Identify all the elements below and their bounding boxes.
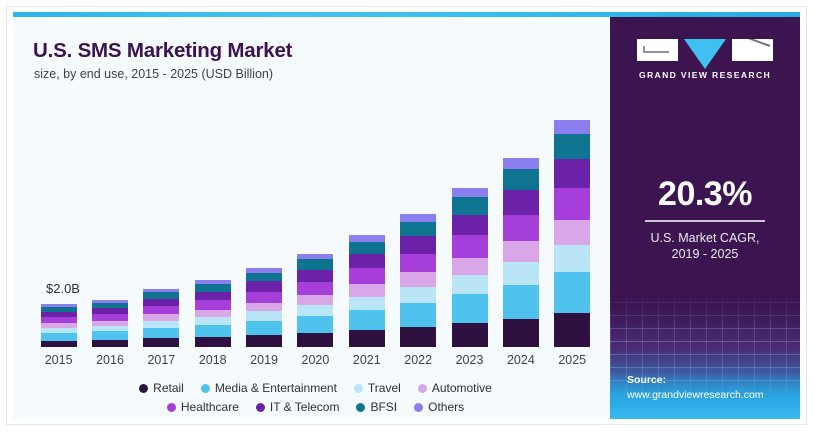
stacked-bar[interactable] xyxy=(143,289,179,347)
logo-wordmark: GRAND VIEW RESEARCH xyxy=(639,70,771,80)
cagr-label-line-1: U.S. Market CAGR, xyxy=(610,230,800,247)
legend-label: IT & Telecom xyxy=(270,400,340,414)
bar-column-2020[interactable] xyxy=(290,254,341,347)
bar-segment-healthcare[interactable] xyxy=(143,306,179,314)
bar-segment-it-telecom[interactable] xyxy=(246,281,282,291)
x-tick-2021: 2021 xyxy=(341,353,392,373)
legend-item-media-entertainment[interactable]: Media & Entertainment xyxy=(201,381,337,395)
bar-segment-others[interactable] xyxy=(503,158,539,169)
stacked-bar[interactable] xyxy=(503,158,539,347)
logo-triangle-icon xyxy=(684,39,726,69)
legend-label: Travel xyxy=(368,381,401,395)
bar-segment-media-entertainment[interactable] xyxy=(195,325,231,337)
source-block: Source: www.grandviewresearch.com xyxy=(627,373,797,403)
x-tick-2019: 2019 xyxy=(238,353,289,373)
stacked-bar-group xyxy=(33,102,598,347)
bar-segment-media-entertainment[interactable] xyxy=(143,328,179,338)
x-tick-2017: 2017 xyxy=(136,353,187,373)
bar-segment-media-entertainment[interactable] xyxy=(503,285,539,319)
legend-row-top: RetailMedia & EntertainmentTravelAutomot… xyxy=(33,381,598,395)
bar-segment-retail[interactable] xyxy=(297,333,333,347)
legend-label: Automotive xyxy=(432,381,492,395)
bar-segment-travel[interactable] xyxy=(452,275,488,294)
bar-segment-it-telecom[interactable] xyxy=(297,270,333,282)
legend-item-others[interactable]: Others xyxy=(414,400,464,414)
legend-label: Others xyxy=(428,400,464,414)
legend-item-it-telecom[interactable]: IT & Telecom xyxy=(256,400,340,414)
stacked-bar[interactable] xyxy=(41,304,77,347)
bar-segment-healthcare[interactable] xyxy=(452,235,488,257)
bar-segment-automotive[interactable] xyxy=(349,284,385,296)
bar-segment-healthcare[interactable] xyxy=(195,300,231,309)
legend-label: Retail xyxy=(153,381,184,395)
legend-swatch-travel-icon xyxy=(354,384,363,393)
stacked-bar[interactable] xyxy=(297,254,333,347)
legend-item-bfsi[interactable]: BFSI xyxy=(356,400,397,414)
bar-column-2015[interactable] xyxy=(33,304,84,347)
bar-segment-retail[interactable] xyxy=(246,335,282,347)
bar-segment-automotive[interactable] xyxy=(554,220,590,245)
bar-segment-automotive[interactable] xyxy=(452,258,488,275)
bar-segment-others[interactable] xyxy=(554,120,590,134)
bar-segment-media-entertainment[interactable] xyxy=(400,303,436,327)
bar-segment-travel[interactable] xyxy=(143,321,179,328)
bar-segment-bfsi[interactable] xyxy=(297,259,333,269)
chart-legend: RetailMedia & EntertainmentTravelAutomot… xyxy=(33,381,598,419)
x-tick-2016: 2016 xyxy=(84,353,135,373)
legend-swatch-others-icon xyxy=(414,403,423,412)
x-tick-2025: 2025 xyxy=(547,353,598,373)
stacked-bar[interactable] xyxy=(400,214,436,347)
x-axis-tick-labels: 2015201620172018201920202021202220232024… xyxy=(33,353,598,373)
logo-left-block-icon xyxy=(637,39,678,61)
bar-segment-retail[interactable] xyxy=(452,323,488,347)
bar-segment-media-entertainment[interactable] xyxy=(41,333,77,341)
source-label: Source: xyxy=(627,373,797,388)
legend-swatch-bfsi-icon xyxy=(356,403,365,412)
legend-item-healthcare[interactable]: Healthcare xyxy=(167,400,239,414)
bar-segment-it-telecom[interactable] xyxy=(143,299,179,307)
legend-label: Healthcare xyxy=(181,400,239,414)
bar-segment-retail[interactable] xyxy=(41,341,77,347)
legend-swatch-retail-icon xyxy=(139,384,148,393)
bar-segment-retail[interactable] xyxy=(92,340,128,347)
stacked-bar[interactable] xyxy=(452,188,488,347)
x-tick-2020: 2020 xyxy=(290,353,341,373)
bar-segment-retail[interactable] xyxy=(400,327,436,347)
cagr-label-line-2: 2019 - 2025 xyxy=(610,246,800,263)
bar-column-2021[interactable] xyxy=(341,235,392,347)
bar-segment-it-telecom[interactable] xyxy=(554,159,590,188)
stacked-bar[interactable] xyxy=(554,120,590,347)
bar-segment-it-telecom[interactable] xyxy=(503,190,539,215)
bar-segment-automotive[interactable] xyxy=(246,303,282,312)
bar-segment-retail[interactable] xyxy=(195,337,231,347)
bar-segment-bfsi[interactable] xyxy=(246,273,282,282)
bar-column-2018[interactable] xyxy=(187,280,238,347)
cagr-callout: 20.3% U.S. Market CAGR, 2019 - 2025 xyxy=(610,177,800,263)
legend-item-retail[interactable]: Retail xyxy=(139,381,184,395)
bar-column-2024[interactable] xyxy=(495,158,546,347)
bar-segment-bfsi[interactable] xyxy=(503,169,539,190)
x-tick-2022: 2022 xyxy=(393,353,444,373)
bar-segment-media-entertainment[interactable] xyxy=(349,310,385,330)
bar-column-2017[interactable] xyxy=(136,289,187,347)
bar-segment-retail[interactable] xyxy=(349,330,385,347)
chart-card: U.S. SMS Marketing Market size, by end u… xyxy=(13,12,800,419)
logo-marks xyxy=(637,39,773,64)
bar-segment-healthcare[interactable] xyxy=(400,254,436,273)
bar-segment-travel[interactable] xyxy=(400,287,436,303)
bar-segment-bfsi[interactable] xyxy=(195,284,231,291)
stacked-bar[interactable] xyxy=(349,235,385,347)
stacked-bar[interactable] xyxy=(92,300,128,347)
bar-segment-automotive[interactable] xyxy=(297,295,333,305)
bar-segment-it-telecom[interactable] xyxy=(452,215,488,236)
screenshot-root: U.S. SMS Marketing Market size, by end u… xyxy=(0,0,815,432)
bar-segment-travel[interactable] xyxy=(246,311,282,320)
bar-column-2023[interactable] xyxy=(444,188,495,347)
bar-segment-it-telecom[interactable] xyxy=(349,254,385,268)
plot-area: $2.0B xyxy=(33,87,598,347)
bar-segment-it-telecom[interactable] xyxy=(400,236,436,253)
legend-swatch-media-entertainment-icon xyxy=(201,384,210,393)
bar-segment-media-entertainment[interactable] xyxy=(554,272,590,313)
legend-swatch-healthcare-icon xyxy=(167,403,176,412)
bar-segment-media-entertainment[interactable] xyxy=(92,331,128,340)
legend-label: Media & Entertainment xyxy=(215,381,337,395)
bar-segment-travel[interactable] xyxy=(297,305,333,316)
bar-segment-retail[interactable] xyxy=(554,313,590,347)
cagr-label: U.S. Market CAGR, 2019 - 2025 xyxy=(610,230,800,264)
bar-segment-healthcare[interactable] xyxy=(92,314,128,321)
x-tick-2023: 2023 xyxy=(444,353,495,373)
bar-segment-travel[interactable] xyxy=(554,245,590,272)
x-tick-2015: 2015 xyxy=(33,353,84,373)
bar-segment-retail[interactable] xyxy=(143,338,179,347)
brand-panel: GRAND VIEW RESEARCH 20.3% U.S. Market CA… xyxy=(610,17,800,419)
bar-segment-automotive[interactable] xyxy=(503,241,539,262)
bar-segment-media-entertainment[interactable] xyxy=(246,321,282,335)
legend-item-automotive[interactable]: Automotive xyxy=(418,381,492,395)
bar-segment-bfsi[interactable] xyxy=(349,242,385,254)
bar-segment-bfsi[interactable] xyxy=(554,134,590,159)
bar-segment-others[interactable] xyxy=(349,235,385,242)
bar-segment-automotive[interactable] xyxy=(400,272,436,287)
bar-segment-retail[interactable] xyxy=(503,319,539,347)
brand-logo: GRAND VIEW RESEARCH xyxy=(610,39,800,80)
cagr-value: 20.3% xyxy=(610,177,800,211)
logo-right-block-icon xyxy=(732,39,773,61)
bar-column-2022[interactable] xyxy=(393,214,444,347)
page-subtitle: size, by end use, 2015 - 2025 (USD Billi… xyxy=(34,67,273,81)
stacked-bar[interactable] xyxy=(246,268,282,347)
bar-segment-travel[interactable] xyxy=(195,317,231,325)
bar-segment-media-entertainment[interactable] xyxy=(297,316,333,333)
bar-column-2025[interactable] xyxy=(547,120,598,347)
cagr-divider xyxy=(645,220,765,222)
bar-segment-bfsi[interactable] xyxy=(452,197,488,214)
bar-segment-bfsi[interactable] xyxy=(400,222,436,237)
bar-segment-it-telecom[interactable] xyxy=(195,292,231,301)
source-url[interactable]: www.grandviewresearch.com xyxy=(627,388,797,403)
bar-segment-healthcare[interactable] xyxy=(349,268,385,284)
legend-row-bottom: HealthcareIT & TelecomBFSIOthers xyxy=(33,400,598,414)
legend-label: BFSI xyxy=(370,400,397,414)
bar-segment-healthcare[interactable] xyxy=(503,215,539,241)
legend-swatch-it-telecom-icon xyxy=(256,403,265,412)
bar-segment-others[interactable] xyxy=(452,188,488,198)
legend-item-travel[interactable]: Travel xyxy=(354,381,401,395)
bar-segment-others[interactable] xyxy=(400,214,436,222)
bar-segment-healthcare[interactable] xyxy=(554,188,590,220)
bar-segment-healthcare[interactable] xyxy=(297,282,333,295)
bar-column-2016[interactable] xyxy=(84,300,135,347)
x-tick-2018: 2018 xyxy=(187,353,238,373)
x-tick-2024: 2024 xyxy=(495,353,546,373)
bar-segment-automotive[interactable] xyxy=(195,310,231,317)
chart-panel: U.S. SMS Marketing Market size, by end u… xyxy=(13,17,610,419)
bar-column-2019[interactable] xyxy=(238,268,289,347)
legend-swatch-automotive-icon xyxy=(418,384,427,393)
page-title: U.S. SMS Marketing Market xyxy=(33,39,292,63)
stacked-bar[interactable] xyxy=(195,280,231,347)
bar-segment-travel[interactable] xyxy=(503,262,539,285)
bar-segment-media-entertainment[interactable] xyxy=(452,294,488,323)
bar-segment-healthcare[interactable] xyxy=(246,292,282,303)
bar-segment-travel[interactable] xyxy=(349,297,385,310)
